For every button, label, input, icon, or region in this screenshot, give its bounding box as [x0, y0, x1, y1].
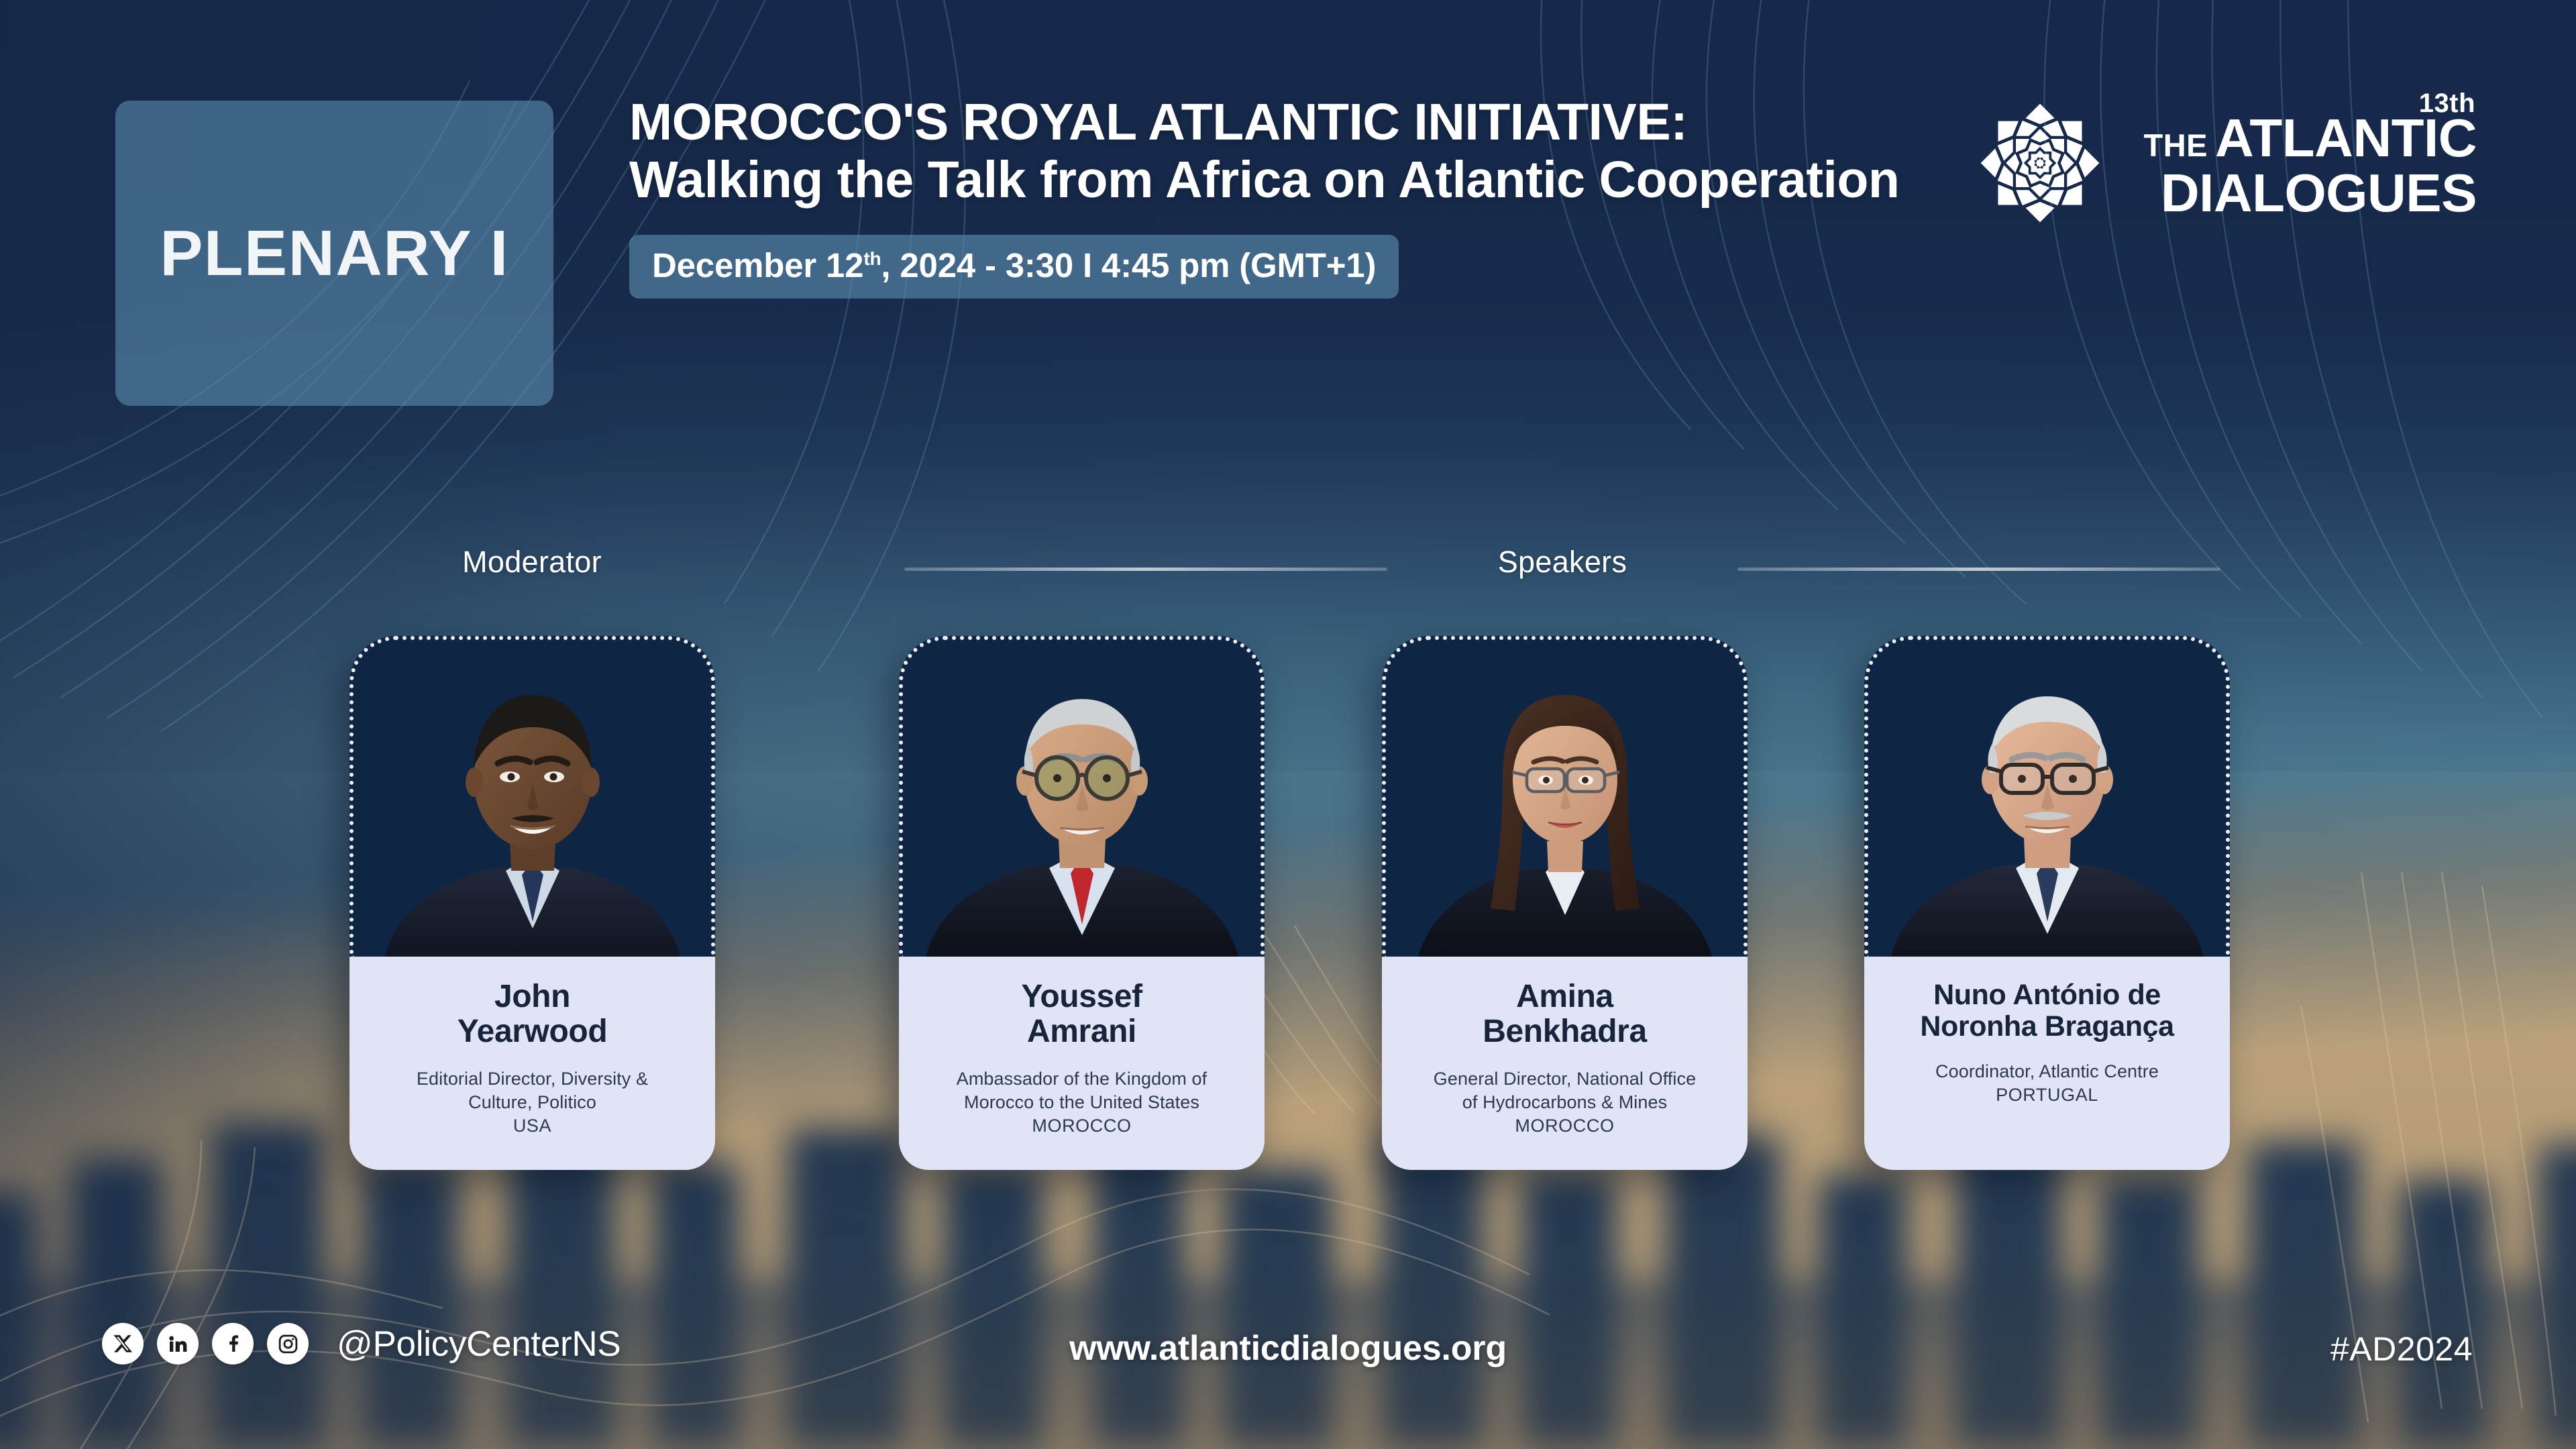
- person-name-line2: Noronha Bragança: [1882, 1011, 2212, 1042]
- person-role: General Director, National Office of Hyd…: [1399, 1067, 1730, 1138]
- x-twitter-icon[interactable]: [102, 1323, 144, 1364]
- person-info: Amina Benkhadra General Director, Nation…: [1382, 957, 1748, 1170]
- person-portrait: [1890, 640, 2205, 957]
- person-name: Amina Benkhadra: [1399, 979, 1730, 1050]
- person-country: MOROCCO: [916, 1114, 1247, 1138]
- person-portrait: [924, 640, 1240, 957]
- moderator-label: Moderator: [462, 545, 602, 580]
- title-block: MOROCCO'S ROYAL ATLANTIC INITIATIVE: Wal…: [629, 94, 1944, 299]
- people-cards: John Yearwood Editorial Director, Divers…: [0, 636, 2576, 1173]
- atlantic-dialogues-rosette-icon: [1956, 79, 2124, 247]
- footer: @PolicyCenterNS www.atlanticdialogues.or…: [0, 1295, 2576, 1449]
- person-role-line1: Ambassador of the Kingdom of: [916, 1067, 1247, 1091]
- person-role-line1: Editorial Director, Diversity &: [367, 1067, 698, 1091]
- logo-the: THE: [2144, 127, 2208, 164]
- section-labels-row: Moderator Speakers: [0, 545, 2576, 592]
- speakers-label: Speakers: [1498, 545, 1627, 580]
- person-photo-frame: [350, 636, 715, 957]
- person-role-line2: of Hydrocarbons & Mines: [1399, 1091, 1730, 1114]
- logo-edition-ordinal: 13th: [2419, 89, 2475, 119]
- person-country: MOROCCO: [1399, 1114, 1730, 1138]
- session-datetime-badge: December 12th, 2024 - 3:30 I 4:45 pm (GM…: [629, 235, 1399, 299]
- linkedin-icon[interactable]: [157, 1323, 199, 1364]
- person-name-line1: Youssef: [916, 979, 1247, 1014]
- person-country: USA: [367, 1114, 698, 1138]
- atlantic-dialogues-logo: 13th THE ATLANTIC DIALOGUES: [1956, 79, 2477, 247]
- person-portrait: [378, 640, 687, 957]
- social-handle: @PolicyCenterNS: [337, 1324, 621, 1364]
- logo-dialogues: DIALOGUES: [2144, 168, 2477, 218]
- person-role: Editorial Director, Diversity & Culture,…: [367, 1067, 698, 1138]
- date-prefix: December 12: [652, 246, 863, 284]
- person-info: Youssef Amrani Ambassador of the Kingdom…: [899, 957, 1265, 1170]
- session-datetime: December 12th, 2024 - 3:30 I 4:45 pm (GM…: [652, 246, 1376, 284]
- person-role: Coordinator, Atlantic Centre PORTUGAL: [1882, 1060, 2212, 1107]
- person-name-line1: John: [367, 979, 698, 1014]
- person-photo-frame: [1382, 636, 1748, 957]
- person-info: Nuno António de Noronha Bragança Coordin…: [1864, 957, 2230, 1170]
- person-role-line2: Culture, Politico: [367, 1091, 698, 1114]
- person-name: Nuno António de Noronha Bragança: [1882, 979, 2212, 1042]
- speakers-rule-left: [904, 568, 1387, 571]
- facebook-icon[interactable]: [212, 1323, 254, 1364]
- event-hashtag: #AD2024: [2330, 1330, 2473, 1368]
- website-url[interactable]: www.atlanticdialogues.org: [1069, 1328, 1507, 1368]
- person-role-line2: Morocco to the United States: [916, 1091, 1247, 1114]
- person-card[interactable]: John Yearwood Editorial Director, Divers…: [350, 636, 715, 1170]
- session-title-line1: MOROCCO'S ROYAL ATLANTIC INITIATIVE:: [629, 94, 1944, 152]
- person-card[interactable]: Amina Benkhadra General Director, Nation…: [1382, 636, 1748, 1170]
- person-name-line2: Yearwood: [367, 1014, 698, 1049]
- speakers-rule-right: [1737, 568, 2220, 571]
- logo-wordmark: 13th THE ATLANTIC DIALOGUES: [2144, 107, 2477, 218]
- person-role-line1: Coordinator, Atlantic Centre: [1882, 1060, 2212, 1083]
- person-info: John Yearwood Editorial Director, Divers…: [350, 957, 715, 1170]
- plenary-badge-label: PLENARY I: [160, 217, 508, 290]
- person-name: John Yearwood: [367, 979, 698, 1050]
- event-banner: PLENARY I MOROCCO'S ROYAL ATLANTIC INITI…: [0, 0, 2576, 1449]
- instagram-icon[interactable]: [267, 1323, 309, 1364]
- person-name-line2: Amrani: [916, 1014, 1247, 1049]
- person-role: Ambassador of the Kingdom of Morocco to …: [916, 1067, 1247, 1138]
- person-role-line1: General Director, National Office: [1399, 1067, 1730, 1091]
- social-links: @PolicyCenterNS: [102, 1323, 621, 1364]
- date-ordinal: th: [863, 248, 881, 269]
- person-name-line2: Benkhadra: [1399, 1014, 1730, 1049]
- session-title-line2: Walking the Talk from Africa on Atlantic…: [629, 152, 1944, 209]
- person-portrait: [1414, 640, 1716, 957]
- person-card[interactable]: Nuno António de Noronha Bragança Coordin…: [1864, 636, 2230, 1170]
- person-name: Youssef Amrani: [916, 979, 1247, 1050]
- logo-atlantic: ATLANTIC: [2215, 113, 2477, 163]
- person-name-line1: Nuno António de: [1882, 979, 2212, 1011]
- person-photo-frame: [1864, 636, 2230, 957]
- person-photo-frame: [899, 636, 1265, 957]
- date-suffix: , 2024 - 3:30 I 4:45 pm (GMT+1): [881, 246, 1376, 284]
- person-card[interactable]: Youssef Amrani Ambassador of the Kingdom…: [899, 636, 1265, 1170]
- plenary-badge: PLENARY I: [115, 101, 553, 406]
- person-name-line1: Amina: [1399, 979, 1730, 1014]
- person-country: PORTUGAL: [1882, 1083, 2212, 1107]
